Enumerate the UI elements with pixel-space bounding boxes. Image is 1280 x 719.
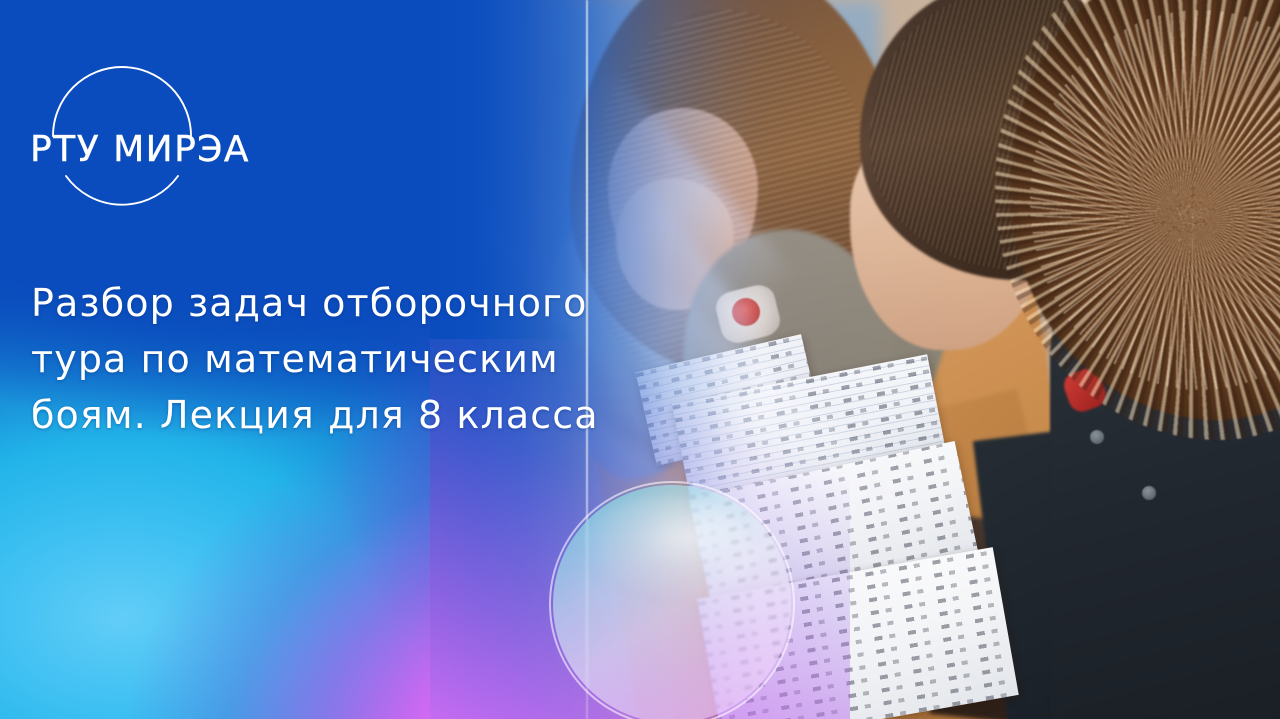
decorative-circle-ring: [549, 481, 795, 719]
rtu-mirea-logo: РТУ МИРЭА: [22, 28, 252, 218]
logo-wordmark: РТУ МИРЭА: [30, 129, 250, 170]
slide-title: Разбор задач отборочного тура по математ…: [31, 275, 751, 443]
presentation-slide: РТУ МИРЭА Разбор задач отборочного тура …: [0, 0, 1280, 719]
